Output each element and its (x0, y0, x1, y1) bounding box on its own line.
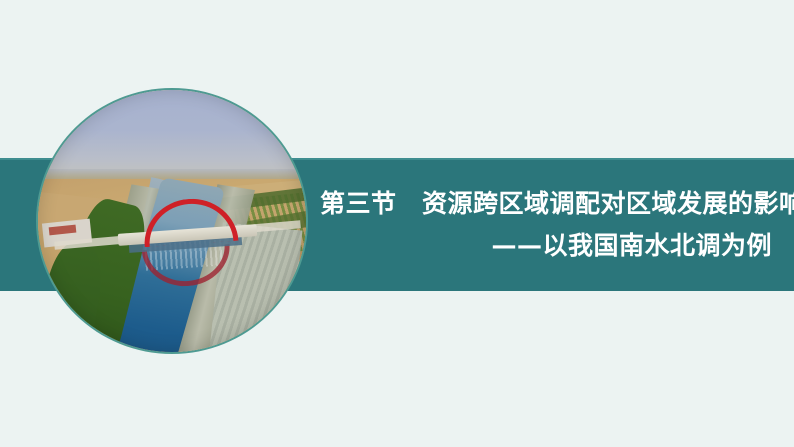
title-slide: 第三节 资源跨区域调配对区域发展的影响 ——以我国南水北调为例 (0, 0, 794, 447)
page-title: 第三节 资源跨区域调配对区域发展的影响 (320, 187, 772, 221)
title-text-block: 第三节 资源跨区域调配对区域发展的影响 ——以我国南水北调为例 (320, 158, 772, 291)
aerial-canal-photo (38, 90, 306, 352)
photo-sky (38, 90, 306, 179)
page-subtitle: ——以我国南水北调为例 (320, 229, 772, 263)
hero-photo (38, 90, 306, 352)
